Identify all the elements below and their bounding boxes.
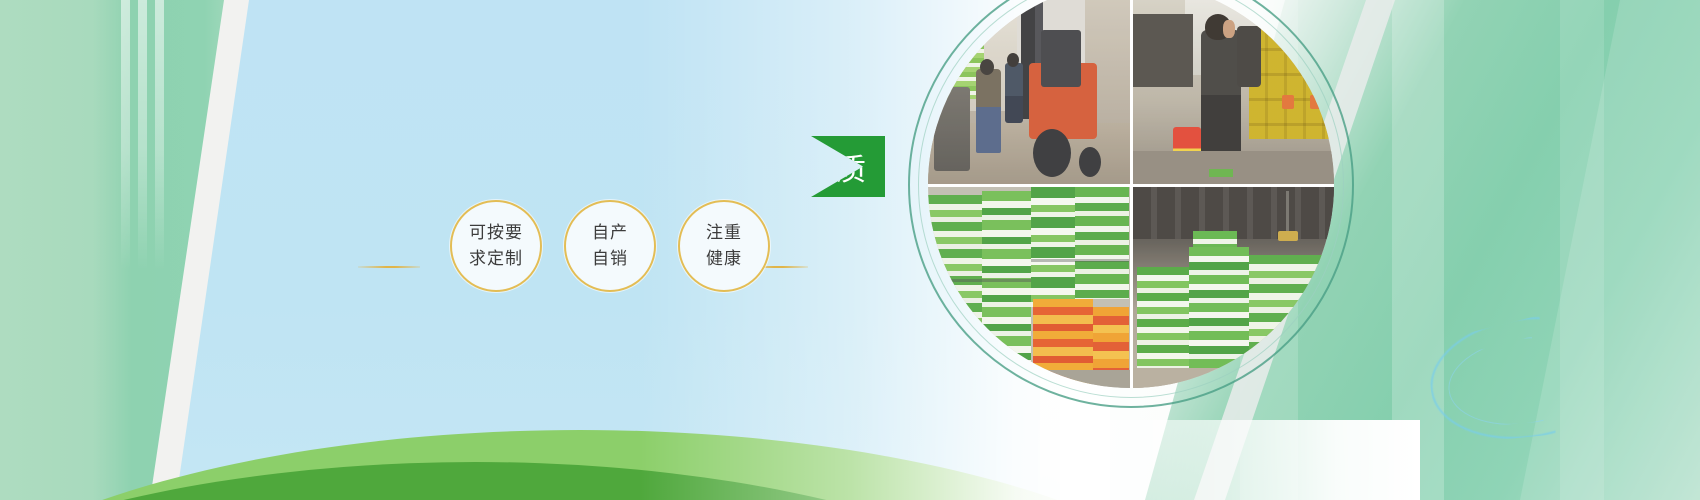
feature-line-1: 注重 <box>706 220 742 246</box>
collage-grid <box>928 0 1334 388</box>
photo-stacked-green-orange-cartons <box>928 187 1130 389</box>
decorative-stripe <box>121 0 130 270</box>
feature-line-2: 求定制 <box>469 246 523 272</box>
gold-divider-line-left <box>358 266 420 268</box>
photo-forklift-loading-truck <box>928 0 1130 184</box>
feature-circle-self-produced[interactable]: 自产 自销 <box>564 200 656 292</box>
decorative-stripe <box>155 0 164 270</box>
feature-line-1: 可按要 <box>469 220 523 246</box>
feature-line-2: 健康 <box>706 246 742 272</box>
decorative-stripe <box>138 0 147 270</box>
hill-fade-mask <box>1000 420 1420 500</box>
promo-banner: 真材实料 厂家直销 诚信经营 保障品质 可按要 求定制 自产 自销 注重 健康 <box>0 0 1700 500</box>
photo-worker-carrying-yellow-cartons <box>1133 0 1335 184</box>
feature-line-1: 自产 <box>592 220 628 246</box>
photo-collage <box>908 0 1354 408</box>
photo-warehouse-product-stacks <box>1133 187 1335 389</box>
feature-line-2: 自销 <box>592 246 628 272</box>
feature-circle-health-focus[interactable]: 注重 健康 <box>678 200 770 292</box>
feature-circles-group: 可按要 求定制 自产 自销 注重 健康 <box>350 200 820 310</box>
feature-circle-custom-order[interactable]: 可按要 求定制 <box>450 200 542 292</box>
